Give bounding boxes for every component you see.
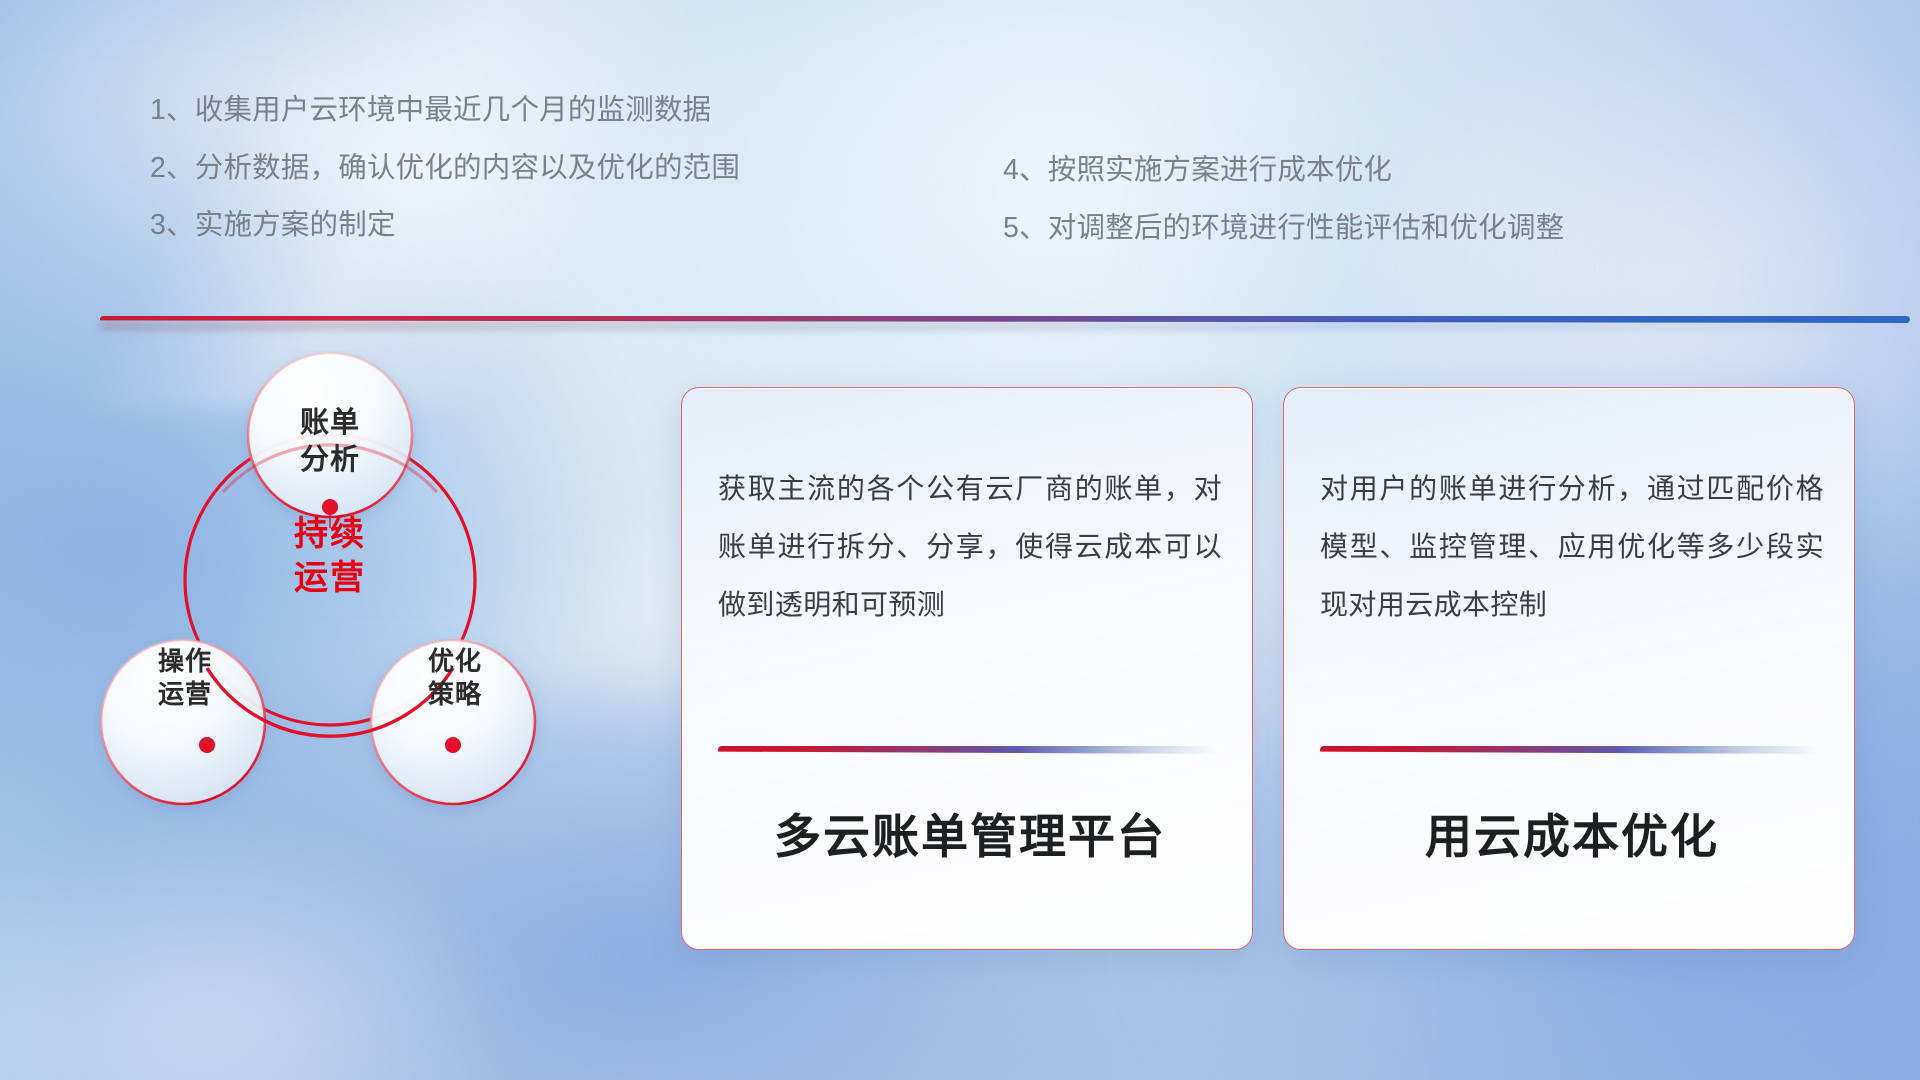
venn-connector-dot-bottom-right <box>445 737 461 753</box>
card-title: 用云成本优化 <box>1320 798 1824 867</box>
step-item: 3、实施方案的制定 <box>150 211 740 240</box>
steps-left-column: 1、收集用户云环境中最近几个月的监测数据 2、分析数据，确认优化的内容以及优化的… <box>150 96 740 269</box>
card-body-text: 对用户的账单进行分析，通过匹配价格模型、监控管理、应用优化等多少段实现对用云成本… <box>1320 460 1824 635</box>
steps-right-column: 4、按照实施方案进行成本优化 5、对调整后的环境进行性能评估和优化调整 <box>1003 156 1564 271</box>
card-accent-rule <box>1320 746 1818 754</box>
venn-node-label-top: 账单 分析 <box>255 405 405 479</box>
info-card[interactable]: 获取主流的各个公有云厂商的账单，对账单进行拆分、分享，使得云成本可以做到透明和可… <box>681 387 1253 950</box>
card-body-text: 获取主流的各个公有云厂商的账单，对账单进行拆分、分享，使得云成本可以做到透明和可… <box>718 460 1222 635</box>
venn-node-label-bottom-right: 优化 策略 <box>380 645 530 712</box>
venn-node-label-bottom-left: 操作 运营 <box>110 645 260 712</box>
venn-diagram: 账单 分析 持续 运营 操作 运营 优化 策略 <box>95 350 565 950</box>
divider-shadow <box>100 322 1910 330</box>
card-title: 多云账单管理平台 <box>718 798 1222 867</box>
venn-center-label: 持续 运营 <box>250 512 410 600</box>
step-item: 5、对调整后的环境进行性能评估和优化调整 <box>1003 214 1564 243</box>
process-steps: 1、收集用户云环境中最近几个月的监测数据 2、分析数据，确认优化的内容以及优化的… <box>0 0 1920 260</box>
card-accent-rule <box>718 746 1216 754</box>
step-item: 4、按照实施方案进行成本优化 <box>1003 156 1564 185</box>
step-item: 2、分析数据，确认优化的内容以及优化的范围 <box>150 154 740 183</box>
step-item: 1、收集用户云环境中最近几个月的监测数据 <box>150 96 740 125</box>
info-card[interactable]: 对用户的账单进行分析，通过匹配价格模型、监控管理、应用优化等多少段实现对用云成本… <box>1283 387 1855 950</box>
venn-connector-dot-bottom-left <box>199 737 215 753</box>
